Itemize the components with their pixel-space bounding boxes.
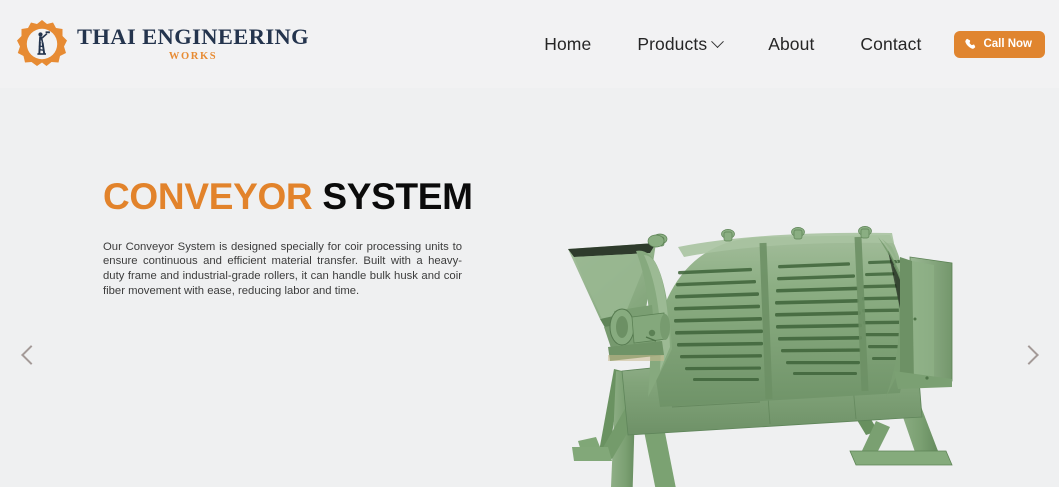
- nav-item-contact[interactable]: Contact: [837, 28, 944, 61]
- chevron-down-icon: [711, 35, 724, 48]
- nav-item-about[interactable]: About: [745, 28, 837, 61]
- hero-section: CONVEYOR SYSTEM Our Conveyor System is d…: [0, 88, 1059, 487]
- nav-item-products[interactable]: Products: [614, 28, 745, 61]
- brand-subtitle: WORKS: [169, 52, 217, 63]
- nav-item-home[interactable]: Home: [521, 28, 614, 61]
- hero-title: CONVEYOR SYSTEM: [103, 178, 463, 217]
- hero-description: Our Conveyor System is designed speciall…: [103, 240, 462, 298]
- chevron-left-icon: [21, 345, 41, 365]
- chevron-right-icon: [1019, 345, 1039, 365]
- brand-title: THAI ENGINEERING: [77, 26, 309, 49]
- green-coir-processing-drum-machine-illustration: [560, 221, 1000, 487]
- call-now-label: Call Now: [983, 38, 1032, 50]
- nav-item-label: Home: [544, 34, 591, 55]
- nav-item-label: About: [768, 34, 814, 55]
- brand-text-block: THAI ENGINEERING WORKS: [77, 26, 309, 63]
- nav-item-label: Contact: [860, 34, 921, 55]
- carousel-next-button[interactable]: [1011, 335, 1051, 375]
- hero-title-highlight: CONVEYOR: [103, 176, 312, 217]
- brand-logo[interactable]: THAI ENGINEERING WORKS: [17, 18, 309, 70]
- gear-with-worker-icon: [17, 18, 67, 70]
- hero-product-image: [560, 221, 1000, 487]
- nav-item-label: Products: [637, 34, 707, 55]
- hero-title-rest: SYSTEM: [312, 176, 472, 217]
- main-navigation: Home Products About Contact Call Now: [521, 0, 1045, 88]
- carousel-prev-button[interactable]: [8, 335, 48, 375]
- phone-icon: [964, 38, 977, 51]
- hero-copy: CONVEYOR SYSTEM Our Conveyor System is d…: [103, 178, 463, 298]
- call-now-button[interactable]: Call Now: [954, 31, 1045, 58]
- page-root: THAI ENGINEERING WORKS Home Products Abo…: [0, 0, 1059, 487]
- site-header: THAI ENGINEERING WORKS Home Products Abo…: [0, 0, 1059, 88]
